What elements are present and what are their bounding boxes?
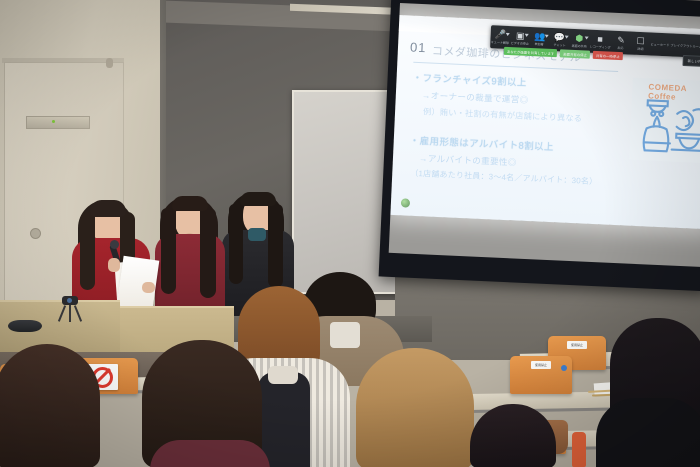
zoom-share-label: 画面の共有 xyxy=(571,43,586,47)
door-sign-placard xyxy=(26,116,90,129)
zoom-mute-button[interactable]: 🎤 ミュート解除 xyxy=(490,25,511,49)
hair-left xyxy=(161,208,176,294)
shirt-collar xyxy=(330,322,360,348)
reactions-icon: ✎ xyxy=(617,35,625,44)
lecture-chair-tagged-2[interactable]: 使用禁止 xyxy=(510,356,572,394)
chair-use-tag: 使用禁止 xyxy=(531,361,551,369)
zoom-new-share-button[interactable]: 新しい共有 xyxy=(682,55,700,67)
komeda-logo-box: COMEDA Coffee xyxy=(629,78,700,164)
zoom-video-label: ビデオの停止 xyxy=(511,41,529,46)
camera-lens-icon xyxy=(67,298,72,303)
chevron-up-icon[interactable] xyxy=(584,36,588,39)
hand-holding-papers xyxy=(142,282,155,293)
lecture-hall-photo: 01 コメダ珈琲のビジネスモデル ・フランチャイズ9割以上 →オーナーの裁量で運… xyxy=(0,0,700,467)
zoom-chat-label: チャット xyxy=(553,43,565,47)
zoom-stop-share-button[interactable]: 画面共有の停止 xyxy=(560,49,590,58)
fringe xyxy=(240,192,276,206)
presentation-slide: 01 コメダ珈琲のビジネスモデル ・フランチャイズ9割以上 →オーナーの裁量で運… xyxy=(390,15,700,229)
chevron-up-icon[interactable] xyxy=(525,34,529,37)
camera-icon: ▣ xyxy=(516,31,525,40)
hair xyxy=(470,404,556,467)
zoom-pause-share-button[interactable]: 共有の一時停止 xyxy=(593,51,623,60)
hair-right xyxy=(268,204,283,288)
shirt-collar xyxy=(268,366,298,384)
fringe xyxy=(172,196,208,211)
microphone-head xyxy=(110,240,119,249)
projection-screen: 01 コメダ珈琲のビジネスモデル ・フランチャイズ9割以上 →オーナーの裁量で運… xyxy=(379,0,700,291)
hair xyxy=(356,348,474,467)
door-indicator-light xyxy=(52,120,55,123)
clothing xyxy=(596,398,700,467)
screen-surface: 01 コメダ珈琲のビジネスモデル ・フランチャイズ9割以上 →オーナーの裁量で運… xyxy=(389,3,700,267)
black-vest xyxy=(258,372,310,467)
hair-left xyxy=(229,204,243,284)
zoom-reactions-label: 反応 xyxy=(618,46,624,50)
hair xyxy=(0,344,100,467)
orange-bottle xyxy=(572,432,586,467)
share-screen-icon: ⬢ xyxy=(575,34,583,43)
door-handle[interactable] xyxy=(106,58,113,68)
hair-left xyxy=(80,212,95,290)
hand-holding-microphone xyxy=(108,258,120,272)
chevron-up-icon[interactable] xyxy=(545,35,549,38)
chevron-up-icon[interactable] xyxy=(505,33,509,36)
slide-footer-logo-icon xyxy=(401,198,410,207)
door-knob[interactable] xyxy=(30,228,41,239)
komeda-coffee-logo-icon xyxy=(631,86,700,163)
hair-right xyxy=(200,208,216,298)
zoom-participants-label: 参加者 xyxy=(535,42,544,46)
chair-use-tag: 使用禁止 xyxy=(567,341,587,349)
zoom-toolbar-right-labels: ビューホード ブレイクアウトルーム ミー xyxy=(650,41,700,49)
chair-blue-sticker xyxy=(561,365,567,371)
slide-number: 01 xyxy=(410,40,427,56)
zoom-mute-label: ミュート解除 xyxy=(491,40,509,45)
chevron-up-icon[interactable] xyxy=(564,36,568,39)
zoom-record-label: レコーディング xyxy=(589,44,610,49)
apps-icon: ☐ xyxy=(636,36,644,45)
clothing xyxy=(150,440,270,467)
record-icon: ■ xyxy=(597,35,603,44)
zoom-apps-label: 詳細 xyxy=(637,46,643,50)
fringe xyxy=(90,200,126,217)
zoom-apps-button[interactable]: ☐ 詳細 xyxy=(630,32,651,56)
conference-speakerphone xyxy=(8,320,42,332)
teal-turtleneck xyxy=(248,228,266,241)
tripod-webcam xyxy=(56,296,82,322)
slide-body: ・フランチャイズ9割以上 →オーナーの裁量で運営◎ 例）賄い・社割の有無が店舗に… xyxy=(408,70,625,189)
